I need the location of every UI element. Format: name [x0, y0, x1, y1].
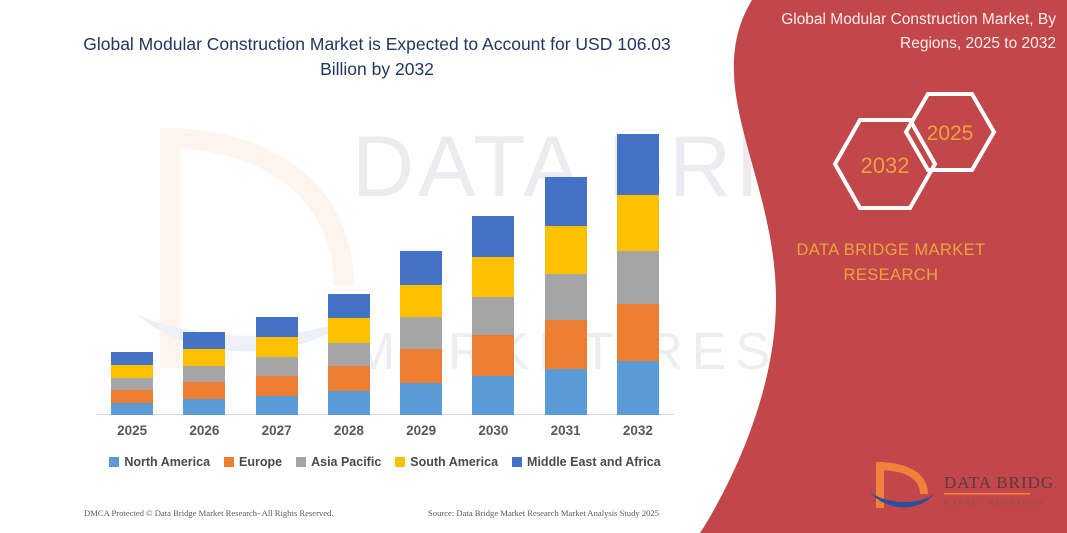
x-axis-tick-label: 2028: [313, 423, 385, 438]
bar-segment: [472, 297, 514, 335]
bar-segment: [617, 361, 659, 415]
bar-segment: [328, 391, 370, 415]
bar-stack[interactable]: [111, 352, 153, 415]
legend-label: South America: [410, 455, 498, 469]
bar-group: [241, 118, 313, 415]
bar-segment: [328, 366, 370, 391]
logo-wordmark: DATA BRIDGE: [944, 473, 1056, 492]
footer-copyright: DMCA Protected © Data Bridge Market Rese…: [84, 508, 334, 518]
bar-segment: [400, 251, 442, 284]
bar-segment: [545, 274, 587, 319]
bar-segment: [472, 257, 514, 297]
legend-item[interactable]: North America: [109, 455, 210, 469]
bar-segment: [183, 366, 225, 382]
bar-segment: [617, 304, 659, 362]
bar-segment: [400, 285, 442, 318]
bar-segment: [328, 294, 370, 319]
bar-segment: [328, 318, 370, 342]
bar-segment: [183, 349, 225, 366]
right-panel: Global Modular Construction Market, By R…: [716, 0, 1067, 533]
bar-segment: [256, 376, 298, 396]
legend-item[interactable]: Middle East and Africa: [512, 455, 661, 469]
legend-swatch: [224, 457, 234, 467]
hexagon-2025-label: 2025: [927, 122, 974, 145]
bar-segment: [111, 352, 153, 365]
legend-swatch: [296, 457, 306, 467]
bar-stack[interactable]: [328, 294, 370, 415]
bar-segment: [256, 396, 298, 415]
bar-segment: [617, 134, 659, 195]
logo-tagline: MARKET RESEARCH: [944, 500, 1044, 507]
hexagon-badges: 2025 2032: [732, 88, 1052, 218]
legend-swatch: [395, 457, 405, 467]
bar-group: [313, 118, 385, 415]
page-title: Global Modular Construction Market is Ex…: [60, 32, 694, 82]
bar-stack[interactable]: [256, 317, 298, 415]
chart-legend: North AmericaEuropeAsia PacificSouth Ame…: [96, 455, 674, 469]
brand-line-2: RESEARCH: [726, 263, 1056, 288]
bar-stack[interactable]: [545, 177, 587, 415]
bar-stack[interactable]: [400, 251, 442, 415]
bar-segment: [328, 343, 370, 366]
infographic-canvas: DATA BRIDGE MARKET RESEARCH Global Modul…: [0, 0, 1067, 533]
bar-segment: [545, 369, 587, 415]
bar-segment: [111, 390, 153, 403]
bar-segment: [256, 337, 298, 357]
legend-label: Asia Pacific: [311, 455, 381, 469]
bar-segment: [400, 317, 442, 348]
x-axis-tick-label: 2031: [530, 423, 602, 438]
bar-segment: [472, 376, 514, 415]
x-axis-tick-label: 2029: [385, 423, 457, 438]
bar-segment: [400, 383, 442, 415]
bar-segment: [183, 399, 225, 415]
legend-label: Europe: [239, 455, 282, 469]
bar-segment: [617, 251, 659, 304]
bar-group: [385, 118, 457, 415]
legend-swatch: [512, 457, 522, 467]
legend-item[interactable]: South America: [395, 455, 498, 469]
bar-segment: [256, 357, 298, 376]
bar-group: [457, 118, 529, 415]
legend-item[interactable]: Europe: [224, 455, 282, 469]
bar-segment: [183, 332, 225, 349]
x-axis-tick-label: 2027: [241, 423, 313, 438]
footer-source: Source: Data Bridge Market Research Mark…: [428, 508, 659, 518]
bar-group: [602, 118, 674, 415]
bar-segment: [111, 365, 153, 378]
bar-group: [168, 118, 240, 415]
x-axis-labels: 20252026202720282029203020312032: [96, 423, 674, 438]
bar-stack[interactable]: [617, 134, 659, 415]
footer: DMCA Protected © Data Bridge Market Rese…: [0, 508, 700, 524]
brand-name: DATA BRIDGE MARKET RESEARCH: [726, 238, 1056, 288]
x-axis-tick-label: 2026: [168, 423, 240, 438]
bar-segment: [472, 216, 514, 257]
bar-segment: [400, 349, 442, 383]
hexagon-2032-label: 2032: [861, 153, 910, 178]
x-axis-tick-label: 2032: [602, 423, 674, 438]
bar-segment: [183, 382, 225, 399]
bar-group: [96, 118, 168, 415]
x-axis-tick-label: 2025: [96, 423, 168, 438]
panel-title: Global Modular Construction Market, By R…: [734, 8, 1056, 56]
legend-label: North America: [124, 455, 210, 469]
bar-segment: [617, 195, 659, 251]
legend-label: Middle East and Africa: [527, 455, 661, 469]
bar-segment: [256, 317, 298, 337]
legend-item[interactable]: Asia Pacific: [296, 455, 381, 469]
bar-segment: [545, 177, 587, 226]
bar-segment: [111, 403, 153, 415]
bar-stack[interactable]: [183, 332, 225, 415]
bar-segment: [545, 320, 587, 369]
bar-group: [530, 118, 602, 415]
data-bridge-logo: DATA BRIDGE MARKET RESEARCH: [866, 458, 1056, 514]
bar-segment: [472, 335, 514, 376]
stacked-bar-chart: [96, 118, 674, 415]
legend-swatch: [109, 457, 119, 467]
brand-line-1: DATA BRIDGE MARKET: [726, 238, 1056, 263]
bar-segment: [545, 226, 587, 274]
bar-stack[interactable]: [472, 216, 514, 415]
bar-segment: [111, 378, 153, 390]
x-axis-tick-label: 2030: [457, 423, 529, 438]
